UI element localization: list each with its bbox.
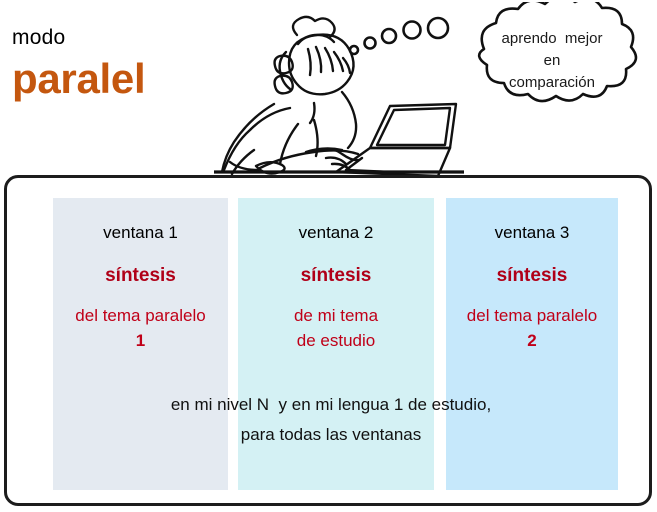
windows-frame: ventana 1 síntesis del tema paralelo 1 v… — [4, 175, 652, 506]
braid-loop-2 — [275, 76, 293, 94]
laptop-screen — [370, 104, 456, 148]
thought-dot-2 — [365, 38, 376, 49]
arm-right-upper — [342, 92, 356, 148]
thought-bubble: aprendo mejor en comparación — [446, 2, 657, 124]
thought-dots-svg — [330, 16, 450, 76]
windows-columns: ventana 1 síntesis del tema paralelo 1 v… — [7, 178, 655, 509]
hair-strand-2 — [316, 47, 321, 72]
window-description-3-line-2: 2 — [446, 329, 618, 354]
window-heading-1: síntesis — [53, 265, 228, 288]
window-label-3: ventana 3 — [446, 223, 618, 243]
window-description-3: del tema paralelo 2 — [446, 304, 618, 353]
window-label-2: ventana 2 — [238, 223, 434, 243]
thought-dot-5 — [428, 18, 448, 38]
window-column-3-content: ventana 3 síntesis del tema paralelo 2 — [446, 223, 618, 353]
thought-dot-3 — [382, 29, 396, 43]
page-title-small: modo — [12, 26, 222, 49]
thought-bubble-line-3: comparación — [470, 72, 634, 94]
hair-strand-1 — [308, 49, 311, 75]
thought-bubble-line-2: en — [470, 50, 634, 72]
thought-bubble-line-1: aprendo mejor — [470, 28, 634, 50]
footer-note-line-1: en mi nivel N y en mi lengua 1 de estudi… — [7, 390, 655, 420]
window-description-2-line-2: de estudio — [297, 331, 375, 350]
laptop-screen-inner — [377, 108, 450, 145]
window-heading-3: síntesis — [446, 265, 618, 288]
footer-note: en mi nivel N y en mi lengua 1 de estudi… — [7, 390, 655, 450]
title-block: modo paralel — [12, 26, 222, 101]
window-heading-2: síntesis — [238, 265, 434, 288]
header-area: modo paralel — [0, 0, 657, 175]
window-description-1-line-1: del tema paralelo — [75, 306, 205, 325]
window-column-1-content: ventana 1 síntesis del tema paralelo 1 — [53, 223, 228, 353]
window-description-3-line-1: del tema paralelo — [467, 306, 597, 325]
window-description-1: del tema paralelo 1 — [53, 304, 228, 353]
footer-note-line-2: para todas las ventanas — [7, 420, 655, 450]
window-label-1: ventana 1 — [53, 223, 228, 243]
page-title-main: paralel — [12, 56, 222, 101]
thought-dot-1 — [350, 46, 358, 54]
window-description-2-line-1: de mi tema — [294, 306, 378, 325]
window-description-2: de mi tema de estudio — [238, 304, 434, 353]
window-description-1-line-2: 1 — [53, 329, 228, 354]
window-column-2-content: ventana 2 síntesis de mi tema de estudio — [238, 223, 434, 353]
thought-bubble-text: aprendo mejor en comparación — [470, 28, 634, 93]
thought-dot-4 — [404, 22, 421, 39]
